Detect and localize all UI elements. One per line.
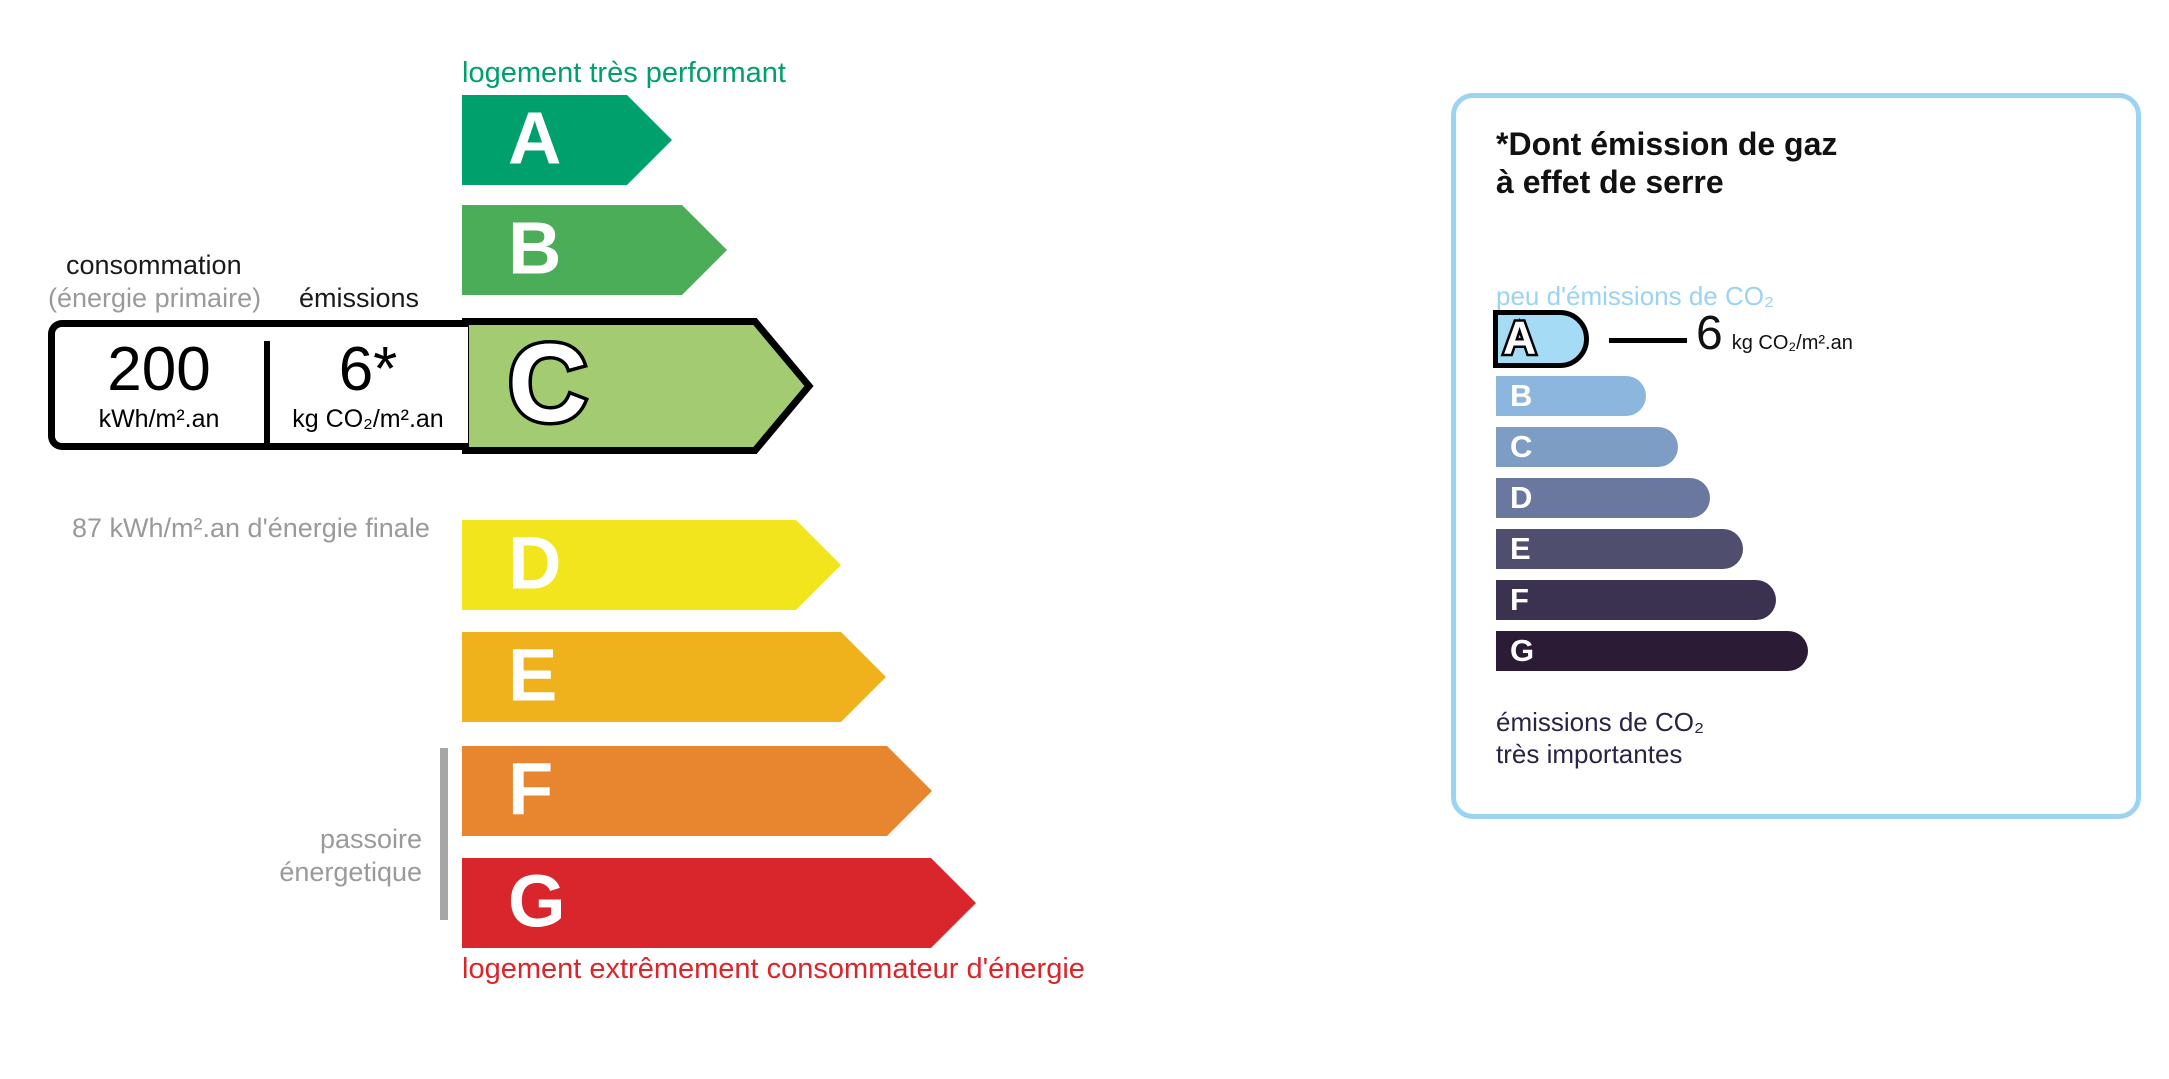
dpe-energy-diagram: logement très performant A B C D E F xyxy=(0,0,1400,1079)
ges-band-label-D: D xyxy=(1510,482,1532,513)
consumption-cell: 200 kWh/m².an xyxy=(55,327,263,443)
energy-band-label-F: F xyxy=(508,753,553,827)
energy-band-B-letter-wrap: B xyxy=(462,205,742,295)
ges-band-D: D xyxy=(1496,478,1710,518)
energy-top-caption: logement très performant xyxy=(462,57,786,90)
label-consommation: consommation xyxy=(66,250,242,281)
consumption-unit: kWh/m².an xyxy=(99,407,220,432)
label-energie-primaire: (énergie primaire) xyxy=(48,283,261,314)
passoire-label: passoire énergetique xyxy=(190,823,422,890)
energy-band-G-letter-wrap: G xyxy=(462,858,992,948)
ges-card: *Dont émission de gaz à effet de serre p… xyxy=(1451,93,2141,819)
energy-band-A-letter-wrap: A xyxy=(462,95,687,185)
ges-band-label-A: A xyxy=(1503,315,1536,361)
emission-cell: 6* kg CO₂/m².an xyxy=(267,327,469,443)
consumption-value-box: 200 kWh/m².an 6* kg CO₂/m².an xyxy=(48,320,468,450)
energy-band-C-letter-wrap: C xyxy=(462,318,822,454)
ges-band-C: C xyxy=(1496,427,1678,467)
final-energy-note: 87 kWh/m².an d'énergie finale xyxy=(72,512,430,545)
ges-band-label-B: B xyxy=(1510,380,1532,411)
energy-band-D-letter-wrap: D xyxy=(462,520,857,610)
ges-value: 6 xyxy=(1696,310,1723,358)
ges-band-label-G: G xyxy=(1510,635,1534,666)
energy-bottom-caption: logement extrêmement consommateur d'éner… xyxy=(462,953,1085,986)
consumption-value: 200 xyxy=(107,339,210,401)
ges-value-unit: kg CO₂/m².an xyxy=(1732,332,1853,355)
energy-band-label-B: B xyxy=(508,212,561,286)
energy-band-label-E: E xyxy=(508,639,557,713)
ges-top-caption: peu d'émissions de CO₂ xyxy=(1496,281,1774,312)
ges-band-E: E xyxy=(1496,529,1743,569)
passoire-marker-bar xyxy=(440,748,448,920)
ges-band-label-F: F xyxy=(1510,584,1529,615)
energy-band-label-A: A xyxy=(508,102,561,176)
ges-band-F: F xyxy=(1496,580,1776,620)
ges-leader-line xyxy=(1609,338,1687,343)
ges-band-A-highlighted: A xyxy=(1493,310,1589,368)
emission-unit: kg CO₂/m².an xyxy=(292,407,443,432)
ges-band-G: G xyxy=(1496,631,1808,671)
emission-value: 6* xyxy=(339,339,398,401)
ges-band-B: B xyxy=(1496,376,1646,416)
ges-value-callout: 6 kg CO₂/m².an xyxy=(1696,310,1853,358)
energy-band-F-letter-wrap: F xyxy=(462,746,947,836)
energy-band-label-D: D xyxy=(508,527,561,601)
ges-band-label-E: E xyxy=(1510,533,1531,564)
ges-bottom-caption: émissions de CO₂ très importantes xyxy=(1496,707,1704,770)
energy-band-E-letter-wrap: E xyxy=(462,632,902,722)
energy-band-label-G: G xyxy=(508,865,566,939)
ges-title: *Dont émission de gaz à effet de serre xyxy=(1496,125,1837,202)
ges-band-label-C: C xyxy=(1510,431,1532,462)
energy-band-label-C: C xyxy=(508,329,587,439)
label-emissions: émissions xyxy=(299,283,419,314)
